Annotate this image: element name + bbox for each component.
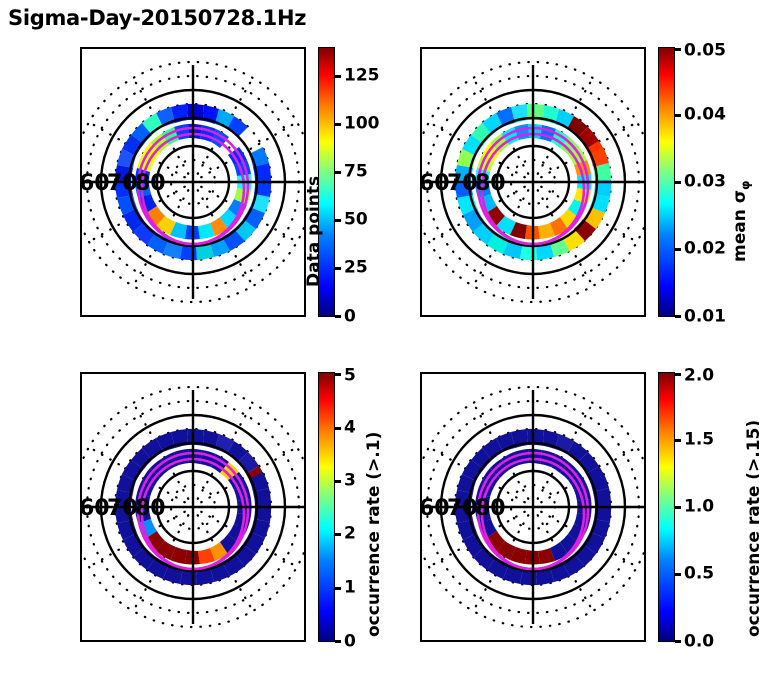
latitude-labels: 60 70 80	[80, 171, 166, 196]
colorbar-title-subscript: φ	[738, 181, 752, 190]
colorbar-tick	[675, 373, 681, 376]
colorbar-gradient	[658, 47, 675, 317]
colorbar-tick	[675, 114, 681, 117]
colorbar-mean-sigma-phi: 0.01 0.02 0.03 0.04 0.05 mean σφ	[658, 47, 675, 317]
svg-text:60: 60	[80, 496, 110, 521]
page-title: Sigma-Day-20150728.1Hz	[8, 6, 306, 30]
colorbar-tick	[675, 181, 681, 184]
colorbar-gradient	[318, 372, 335, 642]
polar-plot-mean-sigma-phi: 607080	[420, 47, 646, 317]
latitude-labels: 607080	[420, 496, 506, 521]
latitude-labels: 607080	[80, 496, 166, 521]
colorbar-tick-label: 2.0	[684, 368, 714, 385]
colorbar-tick-label: 75	[344, 164, 368, 181]
colorbar-tick-label: 0	[344, 309, 356, 326]
svg-text:60: 60	[420, 496, 450, 521]
colorbar-tick	[335, 640, 341, 643]
svg-text:60: 60	[80, 171, 110, 196]
colorbar-tick-label: 0	[344, 634, 356, 651]
colorbar-tick-label: 2	[344, 526, 356, 543]
colorbar-tick	[335, 480, 341, 483]
colorbar-title: mean σφ	[730, 181, 752, 262]
colorbar-tick	[675, 248, 681, 251]
colorbar-tick	[335, 219, 341, 222]
colorbar-tick	[675, 439, 681, 442]
colorbar-tick-label: 0.03	[684, 174, 726, 191]
colorbar-tick-label: 0.5	[684, 566, 714, 583]
colorbar-tick	[335, 123, 341, 126]
colorbar-tick	[335, 533, 341, 536]
colorbar-tick-label: 1.0	[684, 499, 714, 516]
latitude-labels: 607080	[420, 171, 506, 196]
polar-plot-occurrence-rate-015: 607080	[420, 372, 646, 642]
colorbar-occurrence-rate-015: 0.0 0.5 1.0 1.5 2.0 occurrence rate (>.1…	[658, 372, 675, 642]
colorbar-tick	[675, 506, 681, 509]
colorbar-title: Data points	[304, 176, 324, 287]
colorbar-tick	[335, 373, 341, 376]
svg-text:70: 70	[107, 171, 138, 196]
colorbar-tick-label: 0.0	[684, 634, 714, 651]
colorbar-tick-label: 3	[344, 473, 356, 490]
colorbar-tick-label: 4	[344, 420, 356, 437]
colorbar-title: occurrence rate (>.15)	[744, 420, 759, 637]
panel-occurrence-rate-015: 607080	[420, 372, 646, 642]
colorbar-tick	[335, 267, 341, 270]
polar-plot-occurrence-rate-01: 607080	[80, 372, 306, 642]
colorbar-tick-label: 25	[344, 260, 368, 277]
colorbar-tick	[335, 427, 341, 430]
colorbar-tick	[675, 640, 681, 643]
colorbar-tick	[335, 171, 341, 174]
colorbar-tick-label: 50	[344, 212, 368, 229]
colorbar-tick	[675, 573, 681, 576]
panel-occurrence-rate-01: 607080	[80, 372, 306, 642]
colorbar-tick-label: 1.5	[684, 432, 714, 449]
svg-text:80: 80	[475, 171, 506, 196]
polar-plot-data-points: 60 70 80	[80, 47, 306, 317]
colorbar-tick-label: 0.04	[684, 107, 726, 124]
svg-text:70: 70	[447, 496, 478, 521]
colorbar-tick-label: 0.05	[684, 43, 726, 60]
svg-text:80: 80	[475, 496, 506, 521]
colorbar-tick	[335, 587, 341, 590]
panel-data-points: 60 70 80	[80, 47, 306, 317]
colorbar-tick-label: 0.01	[684, 309, 726, 326]
colorbar-tick-label: 125	[344, 68, 380, 85]
colorbar-tick-label: 5	[344, 368, 356, 385]
svg-text:80: 80	[135, 171, 166, 196]
colorbar-tick-label: 1	[344, 580, 356, 597]
colorbar-tick	[335, 315, 341, 318]
svg-text:80: 80	[135, 496, 166, 521]
colorbar-tick	[675, 48, 681, 51]
svg-text:70: 70	[447, 171, 478, 196]
colorbar-occurrence-rate-01: 0 1 2 3 4 5 occurrence rate (>.1)	[318, 372, 335, 642]
colorbar-gradient	[658, 372, 675, 642]
svg-text:70: 70	[107, 496, 138, 521]
colorbar-title: occurrence rate (>.1)	[364, 432, 384, 637]
panel-mean-sigma-phi: 607080	[420, 47, 646, 317]
svg-text:60: 60	[420, 171, 450, 196]
colorbar-tick	[675, 315, 681, 318]
colorbar-tick-label: 0.02	[684, 241, 726, 258]
colorbar-data-points: 0 25 50 75 100 125 Data points	[318, 47, 335, 317]
colorbar-title-text: mean σ	[730, 190, 750, 262]
colorbar-tick-label: 100	[344, 116, 380, 133]
colorbar-tick	[335, 75, 341, 78]
